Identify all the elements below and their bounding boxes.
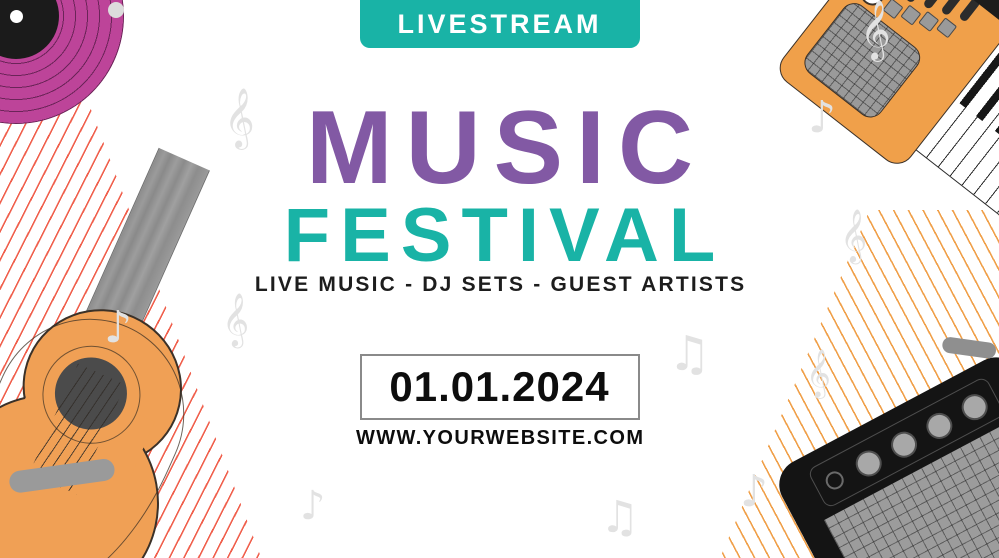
livestream-badge: LIVESTREAM <box>360 0 640 48</box>
website-url: WWW.YOURWEBSITE.COM <box>0 427 999 450</box>
event-date-box: 01.01.2024 <box>360 354 640 420</box>
keyboard-button <box>936 17 957 38</box>
beamed-notes-icon: ♫ <box>600 496 639 540</box>
event-date: 01.01.2024 <box>389 363 609 411</box>
music-festival-poster: 𝄞𝄞𝄞𝄞𝄞𝄢♪♪♪♫♫♪ LIVESTREAM MUSIC FESTIVAL L… <box>0 0 999 558</box>
amplifier-knob <box>957 390 992 425</box>
amplifier-handle <box>941 336 997 359</box>
eighth-note-icon: ♪ <box>300 486 326 526</box>
amplifier-knob <box>851 446 886 481</box>
amplifier-small-knob <box>823 468 847 492</box>
eighth-note-icon: ♪ <box>740 470 768 514</box>
treble-clef-icon: 𝄞 <box>806 352 831 394</box>
guitar-amplifier-icon <box>770 348 999 558</box>
beamed-notes-icon: ♫ <box>668 330 711 378</box>
vinyl-label <box>0 0 59 59</box>
poster-subtitle: LIVE MUSIC - DJ SETS - GUEST ARTISTS <box>0 273 999 297</box>
poster-title-festival: FESTIVAL <box>0 198 999 274</box>
decorative-dot <box>108 2 124 18</box>
livestream-badge-label: LIVESTREAM <box>397 9 601 40</box>
vinyl-spindle-hole <box>10 10 23 23</box>
poster-title-music: MUSIC <box>0 96 999 200</box>
